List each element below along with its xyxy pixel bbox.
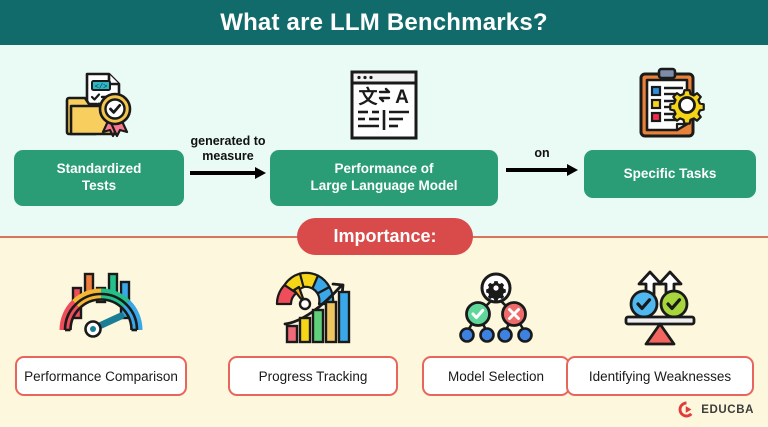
benefit-label-model-selection: Model Selection — [422, 356, 570, 396]
svg-text:文: 文 — [358, 85, 378, 108]
benefit-card-progress-tracking: Progress Tracking — [228, 262, 398, 396]
clipboard-gear-icon — [631, 58, 709, 144]
page-header: What are LLM Benchmarks? — [0, 0, 768, 45]
infographic-page: What are LLM Benchmarks? </> — [0, 0, 768, 427]
arrow-on: on — [506, 146, 578, 175]
arrow-right-icon — [190, 168, 266, 178]
benefit-label-progress-tracking: Progress Tracking — [228, 356, 398, 396]
arrow-label-line-2: measure — [202, 149, 253, 163]
benefit-card-identifying-weaknesses: Identifying Weaknesses — [566, 262, 754, 396]
flow-node-specific-tasks: Specific Tasks — [584, 58, 756, 198]
svg-text:</>: </> — [95, 84, 108, 92]
translation-window-icon: 文 A — [346, 58, 422, 144]
pill-line-2: Large Language Model — [310, 178, 457, 193]
flow-node-performance-llm: 文 A Performance of Large Language Model — [270, 58, 498, 206]
educba-logo: EDUCBA — [677, 400, 754, 419]
flow-pill-standardized-tests: Standardized Tests — [14, 150, 184, 206]
educba-play-logo-icon — [677, 400, 696, 419]
gauge-bars-icon — [55, 262, 147, 348]
benefit-label-identifying-weaknesses: Identifying Weaknesses — [566, 356, 754, 396]
arrow-generated-to-measure: generated to measure — [190, 134, 266, 178]
pill-line-2: Tests — [82, 178, 116, 193]
flow-node-standardized-tests: </> Standardized Tests — [14, 58, 184, 206]
pill-line-1: Performance of — [334, 161, 433, 176]
flow-pill-specific-tasks: Specific Tasks — [584, 150, 756, 198]
svg-text:A: A — [395, 87, 409, 108]
arrow-label-on: on — [534, 146, 549, 161]
pill-line-1: Standardized — [57, 161, 142, 176]
decision-tree-icon — [454, 262, 538, 348]
gauge-growth-chart-icon — [267, 262, 359, 348]
benefit-label-performance-comparison: Performance Comparison — [15, 356, 187, 396]
balance-scale-icon — [616, 262, 704, 348]
educba-brand-text: EDUCBA — [701, 404, 754, 416]
importance-badge: Importance: — [297, 218, 473, 255]
arrow-right-icon — [506, 165, 578, 175]
page-title: What are LLM Benchmarks? — [220, 9, 548, 37]
folder-certificate-icon: </> — [59, 58, 139, 144]
flow-pill-performance-llm: Performance of Large Language Model — [270, 150, 498, 206]
benefit-card-performance-comparison: Performance Comparison — [15, 262, 187, 396]
arrow-label-line-1: generated to — [190, 134, 265, 148]
arrow-label-generated-to-measure: generated to measure — [190, 134, 265, 164]
benefit-card-model-selection: Model Selection — [422, 262, 570, 396]
